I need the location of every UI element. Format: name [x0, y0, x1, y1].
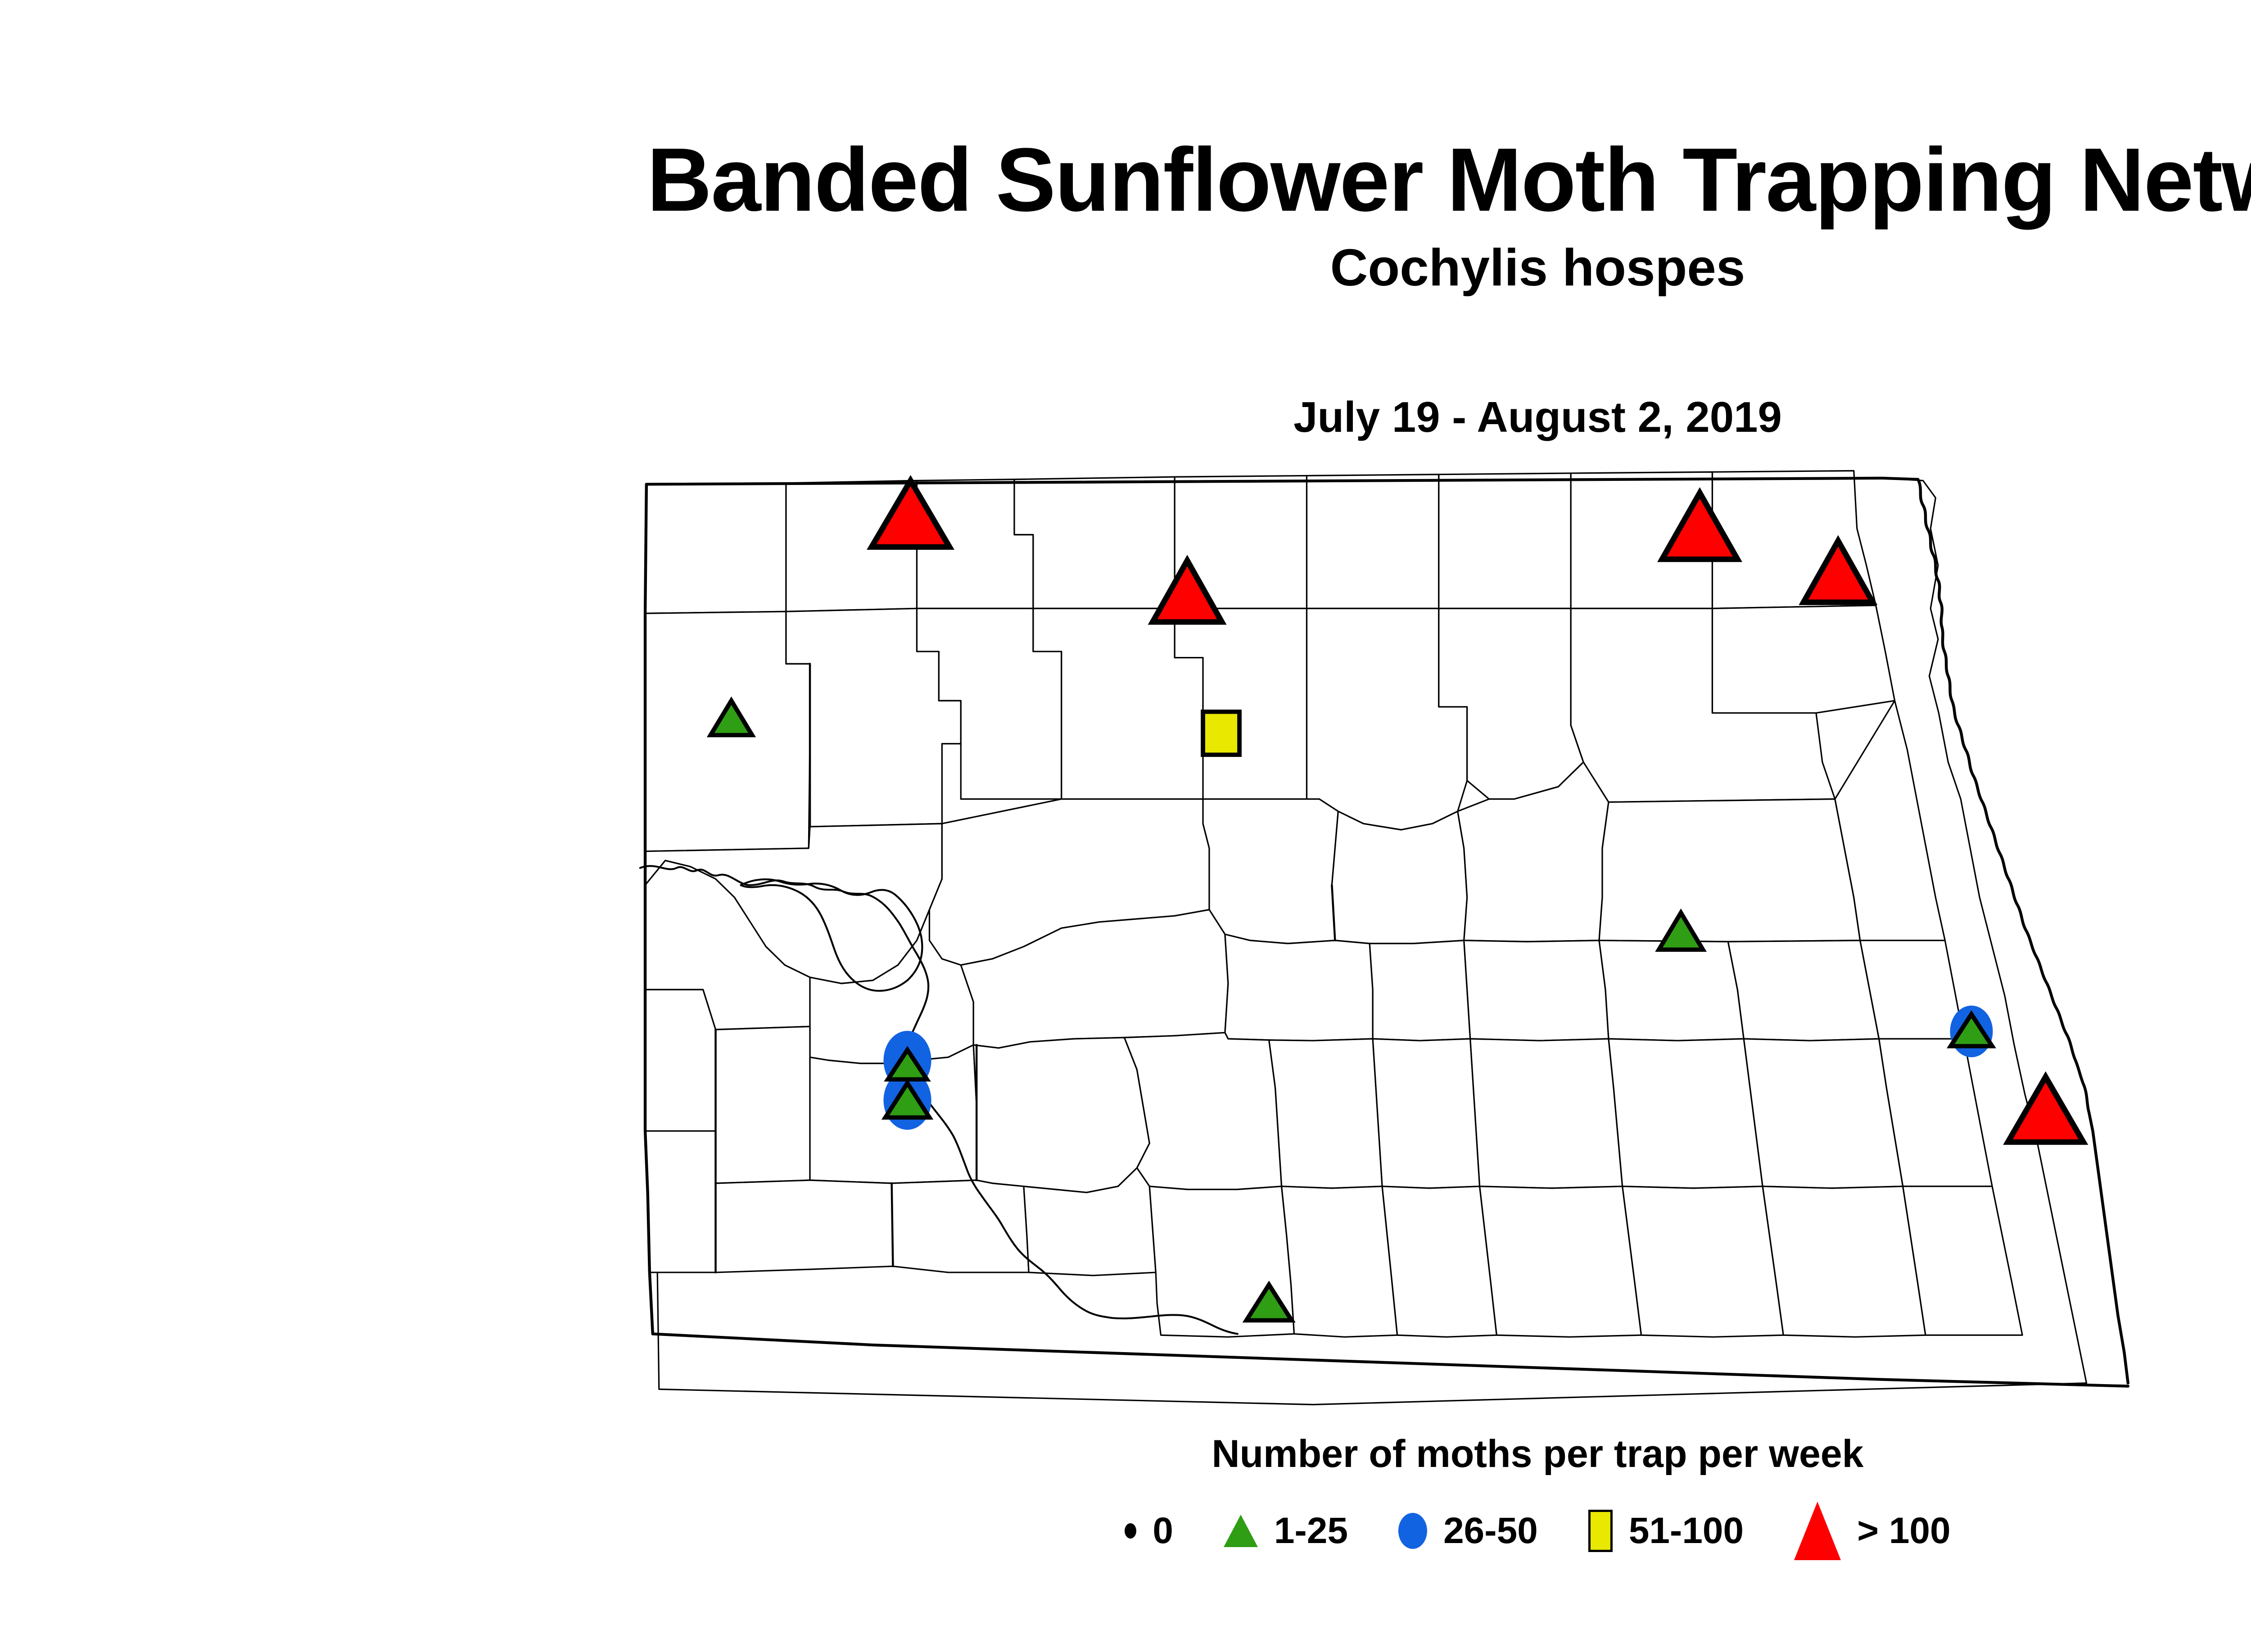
county-stutsman-n — [1464, 941, 1609, 1041]
dot-icon — [1125, 1523, 1136, 1539]
county-towner — [1307, 475, 1439, 609]
legend: 0 1-25 26-50 51-100 > 100 — [0, 1502, 2251, 1560]
county-billings-s — [716, 1027, 810, 1183]
legend-item-0: 0 — [1125, 1512, 1173, 1549]
county-morton-e — [1124, 1032, 1281, 1189]
legend-title: Number of moths per trap per week — [0, 1432, 2251, 1476]
legend-label-51-100: 51-100 — [1629, 1512, 1744, 1549]
county-steele — [1728, 941, 1879, 1041]
county-traill — [1860, 941, 1964, 1039]
county-sargent — [1623, 1186, 1784, 1337]
county-stutsman-s — [1470, 1039, 1623, 1188]
county-walsh-e — [1712, 606, 1894, 713]
county-emmons-n — [1269, 1039, 1382, 1188]
county-bottineau — [1014, 477, 1175, 608]
legend-label-1-25: 1-25 — [1274, 1512, 1348, 1549]
legend-label-over-100: > 100 — [1857, 1512, 1950, 1549]
triangle-green-icon — [1224, 1515, 1258, 1547]
county-barnes — [1609, 1039, 1763, 1188]
county-boundaries — [645, 471, 2087, 1405]
county-slope — [645, 1131, 715, 1272]
county-wells — [1332, 811, 1467, 944]
county-kidder — [1370, 941, 1470, 1041]
county-grant — [892, 1180, 1029, 1272]
marker-square-yellow — [1203, 712, 1239, 755]
county-sheridan — [1203, 799, 1338, 944]
legend-item-1-25: 1-25 — [1224, 1512, 1348, 1549]
title-block: Banded Sunflower Moth Trapping Network C… — [0, 135, 2251, 294]
circle-blue-icon — [1398, 1513, 1427, 1549]
county-goldenvalley — [645, 990, 715, 1131]
county-cass-w — [1744, 1039, 1903, 1188]
county-divide — [645, 483, 786, 613]
legend-label-26-50: 26-50 — [1443, 1512, 1538, 1549]
page-title: Banded Sunflower Moth Trapping Network — [0, 135, 2251, 225]
map-svg — [621, 455, 2206, 1414]
county-ransom — [1763, 1186, 1926, 1337]
county-hettinger — [716, 1180, 893, 1272]
county-mcintosh — [1382, 1186, 1496, 1337]
legend-item-over-100: > 100 — [1794, 1502, 1950, 1560]
county-griggs — [1599, 941, 1744, 1041]
county-cavalier — [1439, 473, 1571, 608]
county-burleigh — [1225, 934, 1373, 1041]
county-logan — [1373, 1039, 1479, 1188]
north-dakota-county-map — [621, 455, 2206, 1414]
county-morton — [973, 1037, 1149, 1192]
date-range-label: July 19 - August 2, 2019 — [0, 393, 2251, 442]
legend-label-0: 0 — [1153, 1512, 1173, 1549]
map-page: Banded Sunflower Moth Trapping Network C… — [0, 0, 2251, 1652]
legend-item-51-100: 51-100 — [1588, 1510, 1744, 1552]
triangle-red-icon — [1794, 1502, 1841, 1560]
county-nelson — [1599, 799, 1860, 942]
county-dickey — [1480, 1186, 1641, 1337]
legend-item-26-50: 26-50 — [1398, 1512, 1538, 1549]
species-subtitle: Cochylis hospes — [0, 241, 2251, 294]
county-emmons — [1282, 1186, 1397, 1337]
square-yellow-icon — [1588, 1510, 1613, 1552]
